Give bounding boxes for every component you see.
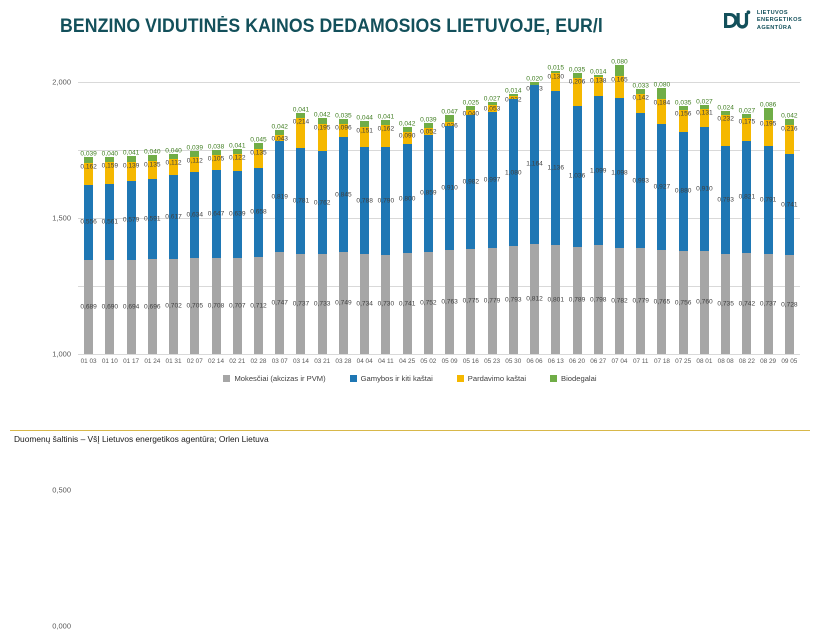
bar-segment-sales: 0,184	[657, 99, 666, 124]
data-label: 0,707	[229, 302, 246, 309]
data-label: 0,927	[654, 183, 671, 190]
stacked-bar[interactable]: 0,0860,1950,7910,737	[764, 108, 773, 354]
data-label: 0,139	[123, 163, 140, 170]
data-label: 0,993	[632, 177, 649, 184]
x-axis-tick-label: 02 14	[208, 358, 224, 365]
x-axis-tick-label: 03 21	[314, 358, 330, 365]
bar-column[interactable]: 0,0390,0520,8590,75205 02	[418, 82, 439, 354]
data-label: 0,015	[548, 64, 565, 71]
data-label: 0,696	[144, 303, 161, 310]
data-label: 0,910	[441, 185, 458, 192]
data-label: 0,042	[399, 120, 416, 127]
stacked-bar[interactable]: 0,0420,0430,8190,747	[275, 130, 284, 355]
data-label: 0,039	[420, 116, 437, 123]
bar-segment-taxes: 0,741	[403, 253, 412, 354]
stacked-bar[interactable]: 0,0270,0530,9970,779	[488, 102, 497, 354]
data-label: 0,044	[356, 114, 373, 121]
stacked-bar[interactable]: 0,0250,0400,9820,775	[466, 106, 475, 354]
stacked-bar[interactable]: 0,0420,1950,7620,733	[318, 118, 327, 354]
x-axis-tick-label: 07 04	[611, 358, 627, 365]
x-axis-tick-label: 01 10	[102, 358, 118, 365]
bar-column[interactable]: 0,0410,2140,7810,73703 14	[290, 82, 311, 354]
data-label: 0,035	[569, 67, 586, 74]
bar-segment-taxes: 0,749	[339, 252, 348, 354]
data-label: 0,122	[229, 155, 246, 162]
y-axis-tick-label: 1,000	[52, 350, 71, 359]
bar-column[interactable]: 0,0390,1620,5560,68901 03	[78, 82, 99, 354]
stacked-bar[interactable]: 0,0470,0360,9100,763	[445, 115, 454, 354]
stacked-bar[interactable]: 0,0400,1350,5910,696	[148, 155, 157, 354]
bar-segment-production: 0,859	[424, 135, 433, 252]
bar-column[interactable]: 0,0420,0430,8190,74703 07	[269, 82, 290, 354]
bar-segment-production: 0,819	[275, 141, 284, 252]
stacked-bar[interactable]: 0,0800,1651,0980,782	[615, 65, 624, 354]
data-label: 0,634	[187, 212, 204, 219]
bar-column[interactable]: 0,0270,0530,9970,77905 23	[481, 82, 502, 354]
data-label: 0,791	[760, 197, 777, 204]
bar-column[interactable]: 0,0400,1590,5610,69001 10	[99, 82, 120, 354]
data-label: 0,035	[675, 99, 692, 106]
bar-segment-production: 0,793	[721, 146, 730, 254]
data-label: 0,579	[123, 217, 140, 224]
data-label: 0,779	[632, 298, 649, 305]
bar-segment-sales: 0,156	[679, 110, 688, 131]
data-label: 0,041	[378, 113, 395, 120]
data-label: 0,752	[420, 299, 437, 306]
data-label: 0,694	[123, 303, 140, 310]
bar-column[interactable]: 0,0270,1310,9100,76008 01	[694, 82, 715, 354]
data-label: 0,880	[675, 188, 692, 195]
bar-column[interactable]: 0,0420,0900,8000,74104 25	[397, 82, 418, 354]
bar-segment-production: 0,880	[679, 132, 688, 252]
bar-segment-sales: 0,052	[424, 128, 433, 135]
bar-segment-taxes: 0,696	[148, 259, 157, 354]
data-label: 0,214	[293, 119, 310, 126]
x-axis-tick-label: 02 21	[229, 358, 245, 365]
data-label: 0,801	[548, 296, 565, 303]
bar-segment-sales: 0,138	[594, 77, 603, 96]
data-label: 0,737	[760, 300, 777, 307]
bar-segment-taxes: 0,789	[573, 247, 582, 354]
bar-segment-production: 0,997	[488, 112, 497, 248]
bar-segment-production: 0,982	[466, 115, 475, 249]
data-label: 0,039	[187, 145, 204, 152]
bar-segment-sales: 0,195	[764, 120, 773, 147]
stacked-bar[interactable]: 0,0410,1220,6390,707	[233, 149, 242, 354]
bar-segment-production: 0,579	[127, 181, 136, 260]
bar-segment-production: 1,099	[594, 96, 603, 245]
bar-column[interactable]: 0,0350,0960,8450,74903 28	[333, 82, 354, 354]
data-label: 0,162	[80, 163, 97, 170]
bar-column[interactable]: 0,0800,1840,9270,76507 18	[651, 82, 672, 354]
bar-segment-sales: 0,162	[84, 163, 93, 185]
data-label: 0,762	[314, 199, 331, 206]
bar-segment-production: 0,790	[381, 147, 390, 254]
data-label: 0,216	[781, 125, 798, 132]
x-axis-tick-label: 08 08	[718, 358, 734, 365]
bar-segment-production: 0,556	[84, 185, 93, 261]
bar-column[interactable]: 0,0420,2160,7410,72809 05	[779, 82, 800, 354]
logo-line-2: ENERGETIKOS	[757, 17, 802, 24]
bar-column[interactable]: 0,0410,1390,5790,69401 17	[120, 82, 141, 354]
data-label: 0,708	[208, 302, 225, 309]
data-label: 0,556	[80, 219, 97, 226]
data-label: 0,734	[356, 301, 373, 308]
data-label: 0,561	[102, 219, 119, 226]
logo-mark-icon	[723, 10, 751, 32]
data-label: 0,781	[293, 197, 310, 204]
bar-column[interactable]: 0,0410,1220,6390,70702 21	[227, 82, 248, 354]
bar-column[interactable]: 0,0390,1120,6340,70502 07	[184, 82, 205, 354]
stacked-bar[interactable]: 0,0400,1120,6170,702	[169, 154, 178, 354]
bar-segment-production: 1,164	[530, 85, 539, 243]
data-label: 0,042	[271, 123, 288, 130]
stacked-bar[interactable]: 0,0240,2320,7930,735	[721, 111, 730, 354]
data-label: 0,040	[165, 147, 182, 154]
bar-segment-sales: 0,175	[742, 118, 751, 142]
bar-segment-taxes: 0,737	[296, 254, 305, 354]
bar-segment-production: 0,762	[318, 151, 327, 255]
data-label: 0,756	[675, 299, 692, 306]
bar-column[interactable]: 0,0800,1651,0980,78207 04	[609, 82, 630, 354]
source-note: Duomenų šaltinis – VšĮ Lietuvos energeti…	[14, 434, 269, 444]
x-axis-tick-label: 08 29	[760, 358, 776, 365]
data-label: 0,730	[378, 301, 395, 308]
bar-segment-sales: 0,195	[318, 124, 327, 151]
legend-item-2[interactable]: Pardavimo kaštai	[457, 374, 526, 383]
bar-column[interactable]: 0,0350,1560,8800,75607 25	[673, 82, 694, 354]
bar-segment-sales: 0,135	[148, 161, 157, 179]
data-label: 0,206	[569, 78, 586, 85]
data-label: 0,775	[463, 298, 480, 305]
bar-column[interactable]: 0,0470,0360,9100,76305 09	[439, 82, 460, 354]
y-axis-tick-label: 0,500	[52, 486, 71, 495]
bar-column[interactable]: 0,0380,1050,6470,70802 14	[205, 82, 226, 354]
stacked-bar[interactable]: 0,0410,1620,7900,730	[381, 120, 390, 354]
bar-column[interactable]: 0,0450,1350,6580,71202 28	[248, 82, 269, 354]
data-label: 0,793	[717, 197, 734, 204]
x-axis-tick-label: 03 07	[272, 358, 288, 365]
data-label: 0,135	[144, 161, 161, 168]
bar-segment-bio: 0,080	[615, 65, 624, 76]
x-axis-tick-label: 02 28	[250, 358, 266, 365]
page-header: BENZINO VIDUTINĖS KAINOS DEDAMOSIOS LIET…	[0, 0, 820, 62]
x-axis-tick-label: 08 22	[739, 358, 755, 365]
stacked-bar[interactable]: 0,0390,0520,8590,752	[424, 123, 433, 354]
data-label: 0,142	[632, 94, 649, 101]
data-label: 0,156	[675, 111, 692, 118]
x-axis-tick-label: 01 03	[81, 358, 97, 365]
data-label: 0,737	[293, 300, 310, 307]
bar-segment-sales: 0,216	[785, 125, 794, 154]
data-label: 0,038	[208, 144, 225, 151]
stacked-bar[interactable]: 0,0420,0900,8000,741	[403, 127, 412, 355]
bar-segment-taxes: 0,793	[509, 246, 518, 354]
bar-segment-taxes: 0,712	[254, 257, 263, 354]
bar-segment-sales: 0,131	[700, 109, 709, 127]
x-axis-tick-label: 05 30	[505, 358, 521, 365]
data-label: 0,159	[102, 163, 119, 170]
stacked-bar[interactable]: 0,0420,2160,7410,728	[785, 119, 794, 354]
page-title: BENZINO VIDUTINĖS KAINOS DEDAMOSIOS LIET…	[60, 16, 603, 38]
bar-segment-taxes: 0,742	[742, 253, 751, 354]
data-label: 0,997	[484, 177, 501, 184]
data-label: 0,195	[760, 120, 777, 127]
bar-column[interactable]: 0,0410,1620,7900,73004 11	[375, 82, 396, 354]
stacked-bar[interactable]: 0,0150,1301,1360,801	[551, 71, 560, 354]
data-label: 0,131	[696, 110, 713, 117]
data-label: 0,014	[590, 69, 607, 76]
bar-segment-sales: 0,122	[233, 154, 242, 171]
bar-segment-taxes: 0,694	[127, 260, 136, 354]
chart-container: 0,0000,5001,0001,5002,000 0,0390,1620,55…	[0, 62, 820, 422]
bar-segment-production: 0,617	[169, 175, 178, 259]
bar-column[interactable]: 0,0400,1120,6170,70201 31	[163, 82, 184, 354]
bar-column[interactable]: 0,0440,1510,7880,73404 04	[354, 82, 375, 354]
data-label: 1,099	[590, 167, 607, 174]
data-label: 0,040	[144, 149, 161, 156]
x-axis-tick-label: 05 02	[420, 358, 436, 365]
data-label: 0,086	[760, 102, 777, 109]
bar-column[interactable]: 0,0140,0221,0800,79305 30	[503, 82, 524, 354]
bar-segment-sales: 0,159	[105, 162, 114, 184]
data-label: 0,195	[314, 125, 331, 132]
x-axis-tick-label: 01 24	[144, 358, 160, 365]
stacked-bar[interactable]: 0,0140,1381,0990,798	[594, 75, 603, 354]
bar-segment-taxes: 0,779	[488, 248, 497, 354]
data-label: 0,789	[569, 297, 586, 304]
bar-segment-taxes: 0,690	[105, 260, 114, 354]
legend-item-0[interactable]: Mokesčiai (akcizas ir PVM)	[223, 374, 325, 383]
data-label: 0,151	[356, 127, 373, 134]
data-label: 0,658	[250, 209, 267, 216]
bar-segment-taxes: 0,734	[360, 254, 369, 354]
bar-segment-taxes: 0,735	[721, 254, 730, 354]
stacked-bar[interactable]: 0,0270,1310,9100,760	[700, 105, 709, 354]
bar-segment-production: 0,591	[148, 179, 157, 259]
bar-column[interactable]: 0,0420,1950,7620,73303 21	[312, 82, 333, 354]
data-label: 0,041	[123, 150, 140, 157]
x-axis-tick-label: 04 25	[399, 358, 415, 365]
bar-segment-sales: 0,232	[721, 115, 730, 147]
stacked-bar[interactable]: 0,0330,1420,9930,779	[636, 89, 645, 354]
bar-segment-production: 1,098	[615, 98, 624, 247]
data-label: 0,020	[526, 76, 543, 83]
bar-segment-taxes: 0,812	[530, 244, 539, 354]
data-label: 0,760	[696, 299, 713, 306]
footer-divider	[10, 430, 810, 431]
bar-segment-sales: 0,214	[296, 118, 305, 147]
bar-column[interactable]: 0,0860,1950,7910,73708 29	[758, 82, 779, 354]
stacked-bar[interactable]: 0,0410,1390,5790,694	[127, 156, 136, 354]
x-axis-tick-label: 03 14	[293, 358, 309, 365]
stacked-bar[interactable]: 0,0390,1620,5560,689	[84, 157, 93, 354]
legend-swatch-icon	[223, 375, 230, 382]
bar-segment-taxes: 0,782	[615, 248, 624, 354]
x-axis-tick-label: 05 09	[442, 358, 458, 365]
bar-segment-sales: 0,105	[212, 155, 221, 169]
data-label: 0,733	[314, 301, 331, 308]
bar-segment-sales: 0,162	[381, 125, 390, 147]
stacked-bar[interactable]: 0,0380,1050,6470,708	[212, 150, 221, 354]
data-label: 0,042	[781, 113, 798, 120]
x-axis-tick-label: 04 11	[378, 358, 394, 365]
x-axis-tick-label: 07 25	[675, 358, 691, 365]
bar-segment-production: 1,080	[509, 99, 518, 246]
bar-segment-sales: 0,139	[127, 162, 136, 181]
data-label: 0,790	[378, 198, 395, 205]
bar-column[interactable]: 0,0350,2061,0360,78906 20	[566, 82, 587, 354]
data-label: 0,749	[335, 300, 352, 307]
data-label: 0,819	[271, 193, 288, 200]
bar-segment-production: 0,634	[190, 172, 199, 258]
data-label: 0,041	[293, 106, 310, 113]
y-axis-tick-label: 0,000	[52, 622, 71, 631]
logo-line-1: LIETUVOS	[757, 10, 802, 17]
bar-segment-sales: 0,112	[190, 157, 199, 172]
bar-column[interactable]: 0,0400,1350,5910,69601 24	[142, 82, 163, 354]
bar-column[interactable]: 0,0200,0031,1640,81206 06	[524, 82, 545, 354]
data-label: 0,742	[739, 300, 756, 307]
data-label: 0,812	[526, 295, 543, 302]
stacked-bar[interactable]: 0,0400,1590,5610,690	[105, 157, 114, 354]
stacked-bar[interactable]: 0,0350,2061,0360,789	[573, 73, 582, 354]
data-label: 0,090	[399, 133, 416, 140]
x-axis-tick-label: 05 23	[484, 358, 500, 365]
bar-segment-taxes: 0,763	[445, 250, 454, 354]
data-label: 1,136	[548, 164, 565, 171]
bar-segment-production: 0,821	[742, 141, 751, 253]
bar-segment-sales: 0,130	[551, 73, 560, 91]
stacked-bar[interactable]: 0,0390,1120,6340,705	[190, 151, 199, 354]
bar-segment-taxes: 0,728	[785, 255, 794, 354]
data-label: 0,800	[399, 195, 416, 202]
bar-segment-production: 1,036	[573, 106, 582, 247]
data-label: 0,821	[739, 194, 756, 201]
bar-segment-taxes: 0,775	[466, 249, 475, 354]
bar-column[interactable]: 0,0140,1381,0990,79806 27	[588, 82, 609, 354]
bar-segment-taxes: 0,689	[84, 260, 93, 354]
data-label: 0,735	[717, 301, 734, 308]
bar-segment-production: 0,927	[657, 124, 666, 250]
bar-segment-bio: 0,086	[764, 108, 773, 120]
data-label: 1,098	[611, 170, 628, 177]
x-axis-tick-label: 06 27	[590, 358, 606, 365]
legend-item-3[interactable]: Biodegalai	[550, 374, 596, 383]
data-label: 0,138	[590, 78, 607, 85]
logo-wordmark: LIETUVOS ENERGETIKOS AGENTŪRA	[757, 10, 802, 32]
bar-segment-taxes: 0,747	[275, 252, 284, 354]
stacked-bar[interactable]: 0,0410,2140,7810,737	[296, 113, 305, 354]
bar-segment-sales: 0,206	[573, 78, 582, 106]
data-label: 0,845	[335, 191, 352, 198]
stacked-bar[interactable]: 0,0140,0221,0800,793	[509, 94, 518, 354]
bar-segment-production: 0,781	[296, 148, 305, 254]
bar-column[interactable]: 0,0150,1301,1360,80106 13	[545, 82, 566, 354]
bar-segment-sales: 0,112	[169, 159, 178, 174]
data-label: 0,591	[144, 216, 161, 223]
data-label: 0,788	[356, 197, 373, 204]
data-label: 0,024	[717, 105, 734, 112]
data-label: 0,741	[781, 201, 798, 208]
legend-item-1[interactable]: Gamybos ir kiti kaštai	[350, 374, 433, 383]
data-label: 0,779	[484, 298, 501, 305]
data-label: 0,130	[548, 73, 565, 80]
legend-label: Gamybos ir kiti kaštai	[361, 374, 433, 383]
bar-segment-sales: 0,165	[615, 76, 624, 98]
data-label: 0,105	[208, 156, 225, 163]
bar-segment-sales: 0,090	[403, 132, 412, 144]
data-label: 0,027	[484, 95, 501, 102]
data-label: 0,135	[250, 150, 267, 157]
bar-segment-taxes: 0,752	[424, 252, 433, 354]
data-label: 0,782	[611, 297, 628, 304]
x-axis-tick-label: 06 20	[569, 358, 585, 365]
organization-logo: LIETUVOS ENERGETIKOS AGENTŪRA	[723, 10, 802, 32]
data-label: 0,763	[441, 299, 458, 306]
x-axis-tick-label: 04 04	[357, 358, 373, 365]
x-axis-tick-label: 08 01	[696, 358, 712, 365]
bar-column[interactable]: 0,0240,2320,7930,73508 08	[715, 82, 736, 354]
x-axis-tick-label: 06 06	[527, 358, 543, 365]
stacked-bar[interactable]: 0,0270,1750,8210,742	[742, 114, 751, 354]
bar-segment-sales: 0,096	[339, 124, 348, 137]
bar-segment-taxes: 0,707	[233, 258, 242, 354]
legend-label: Mokesčiai (akcizas ir PVM)	[234, 374, 325, 383]
stacked-bar[interactable]: 0,0450,1350,6580,712	[254, 143, 263, 354]
bar-segment-taxes: 0,730	[381, 255, 390, 354]
bar-segment-production: 0,993	[636, 113, 645, 248]
data-label: 0,025	[463, 100, 480, 107]
y-axis-tick-label: 2,000	[52, 78, 71, 87]
stacked-bar[interactable]: 0,0800,1840,9270,765	[657, 88, 666, 354]
bar-segment-sales: 0,053	[488, 105, 497, 112]
bar-segment-production: 0,788	[360, 147, 369, 254]
data-label: 0,112	[166, 160, 182, 167]
bar-group: 0,0390,1620,5560,68901 030,0400,1590,561…	[78, 82, 800, 354]
bar-segment-taxes: 0,708	[212, 258, 221, 354]
data-label: 0,041	[229, 142, 246, 149]
x-axis-tick-label: 07 11	[633, 358, 649, 365]
data-label: 0,639	[229, 211, 246, 218]
data-label: 0,690	[102, 304, 119, 311]
data-label: 0,765	[654, 298, 671, 305]
data-label: 0,910	[696, 185, 713, 192]
data-label: 0,080	[611, 59, 628, 66]
stacked-bar[interactable]: 0,0350,0960,8450,749	[339, 119, 348, 354]
data-label: 0,045	[250, 137, 267, 144]
data-label: 1,036	[569, 173, 586, 180]
bar-segment-taxes: 0,798	[594, 245, 603, 354]
data-label: 0,184	[654, 99, 671, 106]
x-axis-tick-label: 01 17	[123, 358, 139, 365]
bar-column[interactable]: 0,0270,1750,8210,74208 22	[736, 82, 757, 354]
data-label: 0,705	[187, 303, 204, 310]
logo-line-3: AGENTŪRA	[757, 25, 802, 32]
stacked-bar[interactable]: 0,0200,0031,1640,812	[530, 82, 539, 354]
stacked-bar[interactable]: 0,0440,1510,7880,734	[360, 121, 369, 354]
bar-segment-taxes: 0,733	[318, 254, 327, 354]
bar-column[interactable]: 0,0330,1420,9930,77907 11	[630, 82, 651, 354]
bar-segment-taxes: 0,765	[657, 250, 666, 354]
stacked-bar[interactable]: 0,0350,1560,8800,756	[679, 106, 688, 354]
data-label: 0,040	[102, 150, 119, 157]
legend-label: Pardavimo kaštai	[468, 374, 526, 383]
x-axis-tick-label: 07 18	[654, 358, 670, 365]
data-label: 0,033	[632, 83, 649, 90]
bar-column[interactable]: 0,0250,0400,9820,77505 16	[460, 82, 481, 354]
data-label: 0,232	[717, 115, 734, 122]
